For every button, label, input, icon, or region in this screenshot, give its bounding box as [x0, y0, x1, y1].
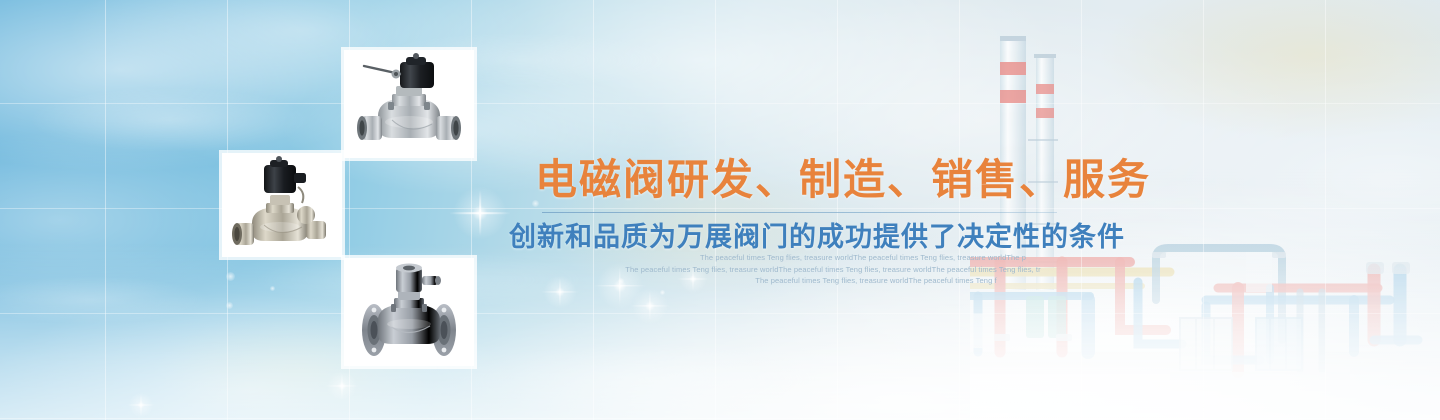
bokeh-dot — [226, 272, 235, 281]
blurb-line: The peaceful times Teng flies, treasure … — [636, 252, 1056, 264]
cloud-layer-near — [0, 0, 1440, 420]
bokeh-dot — [226, 302, 233, 309]
warm-haze-overlay — [0, 0, 1440, 420]
blurb-line: The peaceful times Teng flies, treasure … — [610, 264, 1056, 276]
page-subtitle: 创新和品质为万展阀门的成功提供了决定性的条件 — [509, 220, 1125, 254]
sparkle-glint — [628, 284, 672, 328]
bokeh-dot — [618, 278, 624, 284]
decorative-blurb: The peaceful times Teng flies, treasure … — [636, 252, 1056, 287]
sparkle-glint — [540, 272, 580, 312]
bokeh-dot — [270, 286, 275, 291]
product-thumbnail-solenoid-valve-flanged-bottom[interactable] — [344, 258, 474, 366]
product-thumbnail-solenoid-valve-threaded-left[interactable] — [222, 153, 342, 257]
cloud-wisps — [0, 0, 1440, 420]
hero-banner: 电磁阀研发、制造、销售、服务 创新和品质为万展阀门的成功提供了决定性的条件 Th… — [0, 0, 1440, 420]
sparkle-glint — [126, 390, 156, 420]
title-divider — [542, 212, 1057, 213]
sparkle-glint — [324, 368, 360, 404]
page-title: 电磁阀研发、制造、销售、服务 — [535, 156, 1151, 204]
blurb-line: The peaceful times Teng flies, treasure … — [636, 275, 1056, 287]
plant-fade-overlay — [970, 0, 1440, 420]
industrial-plant-illustration — [970, 0, 1440, 420]
cloud-layer-far — [0, 0, 1440, 420]
sparkle-glint — [447, 180, 513, 246]
product-thumbnail-solenoid-valve-threaded-top[interactable] — [344, 50, 474, 158]
grid-overlay — [0, 0, 1440, 420]
bokeh-dot — [660, 290, 665, 295]
bottom-haze — [0, 0, 1440, 420]
